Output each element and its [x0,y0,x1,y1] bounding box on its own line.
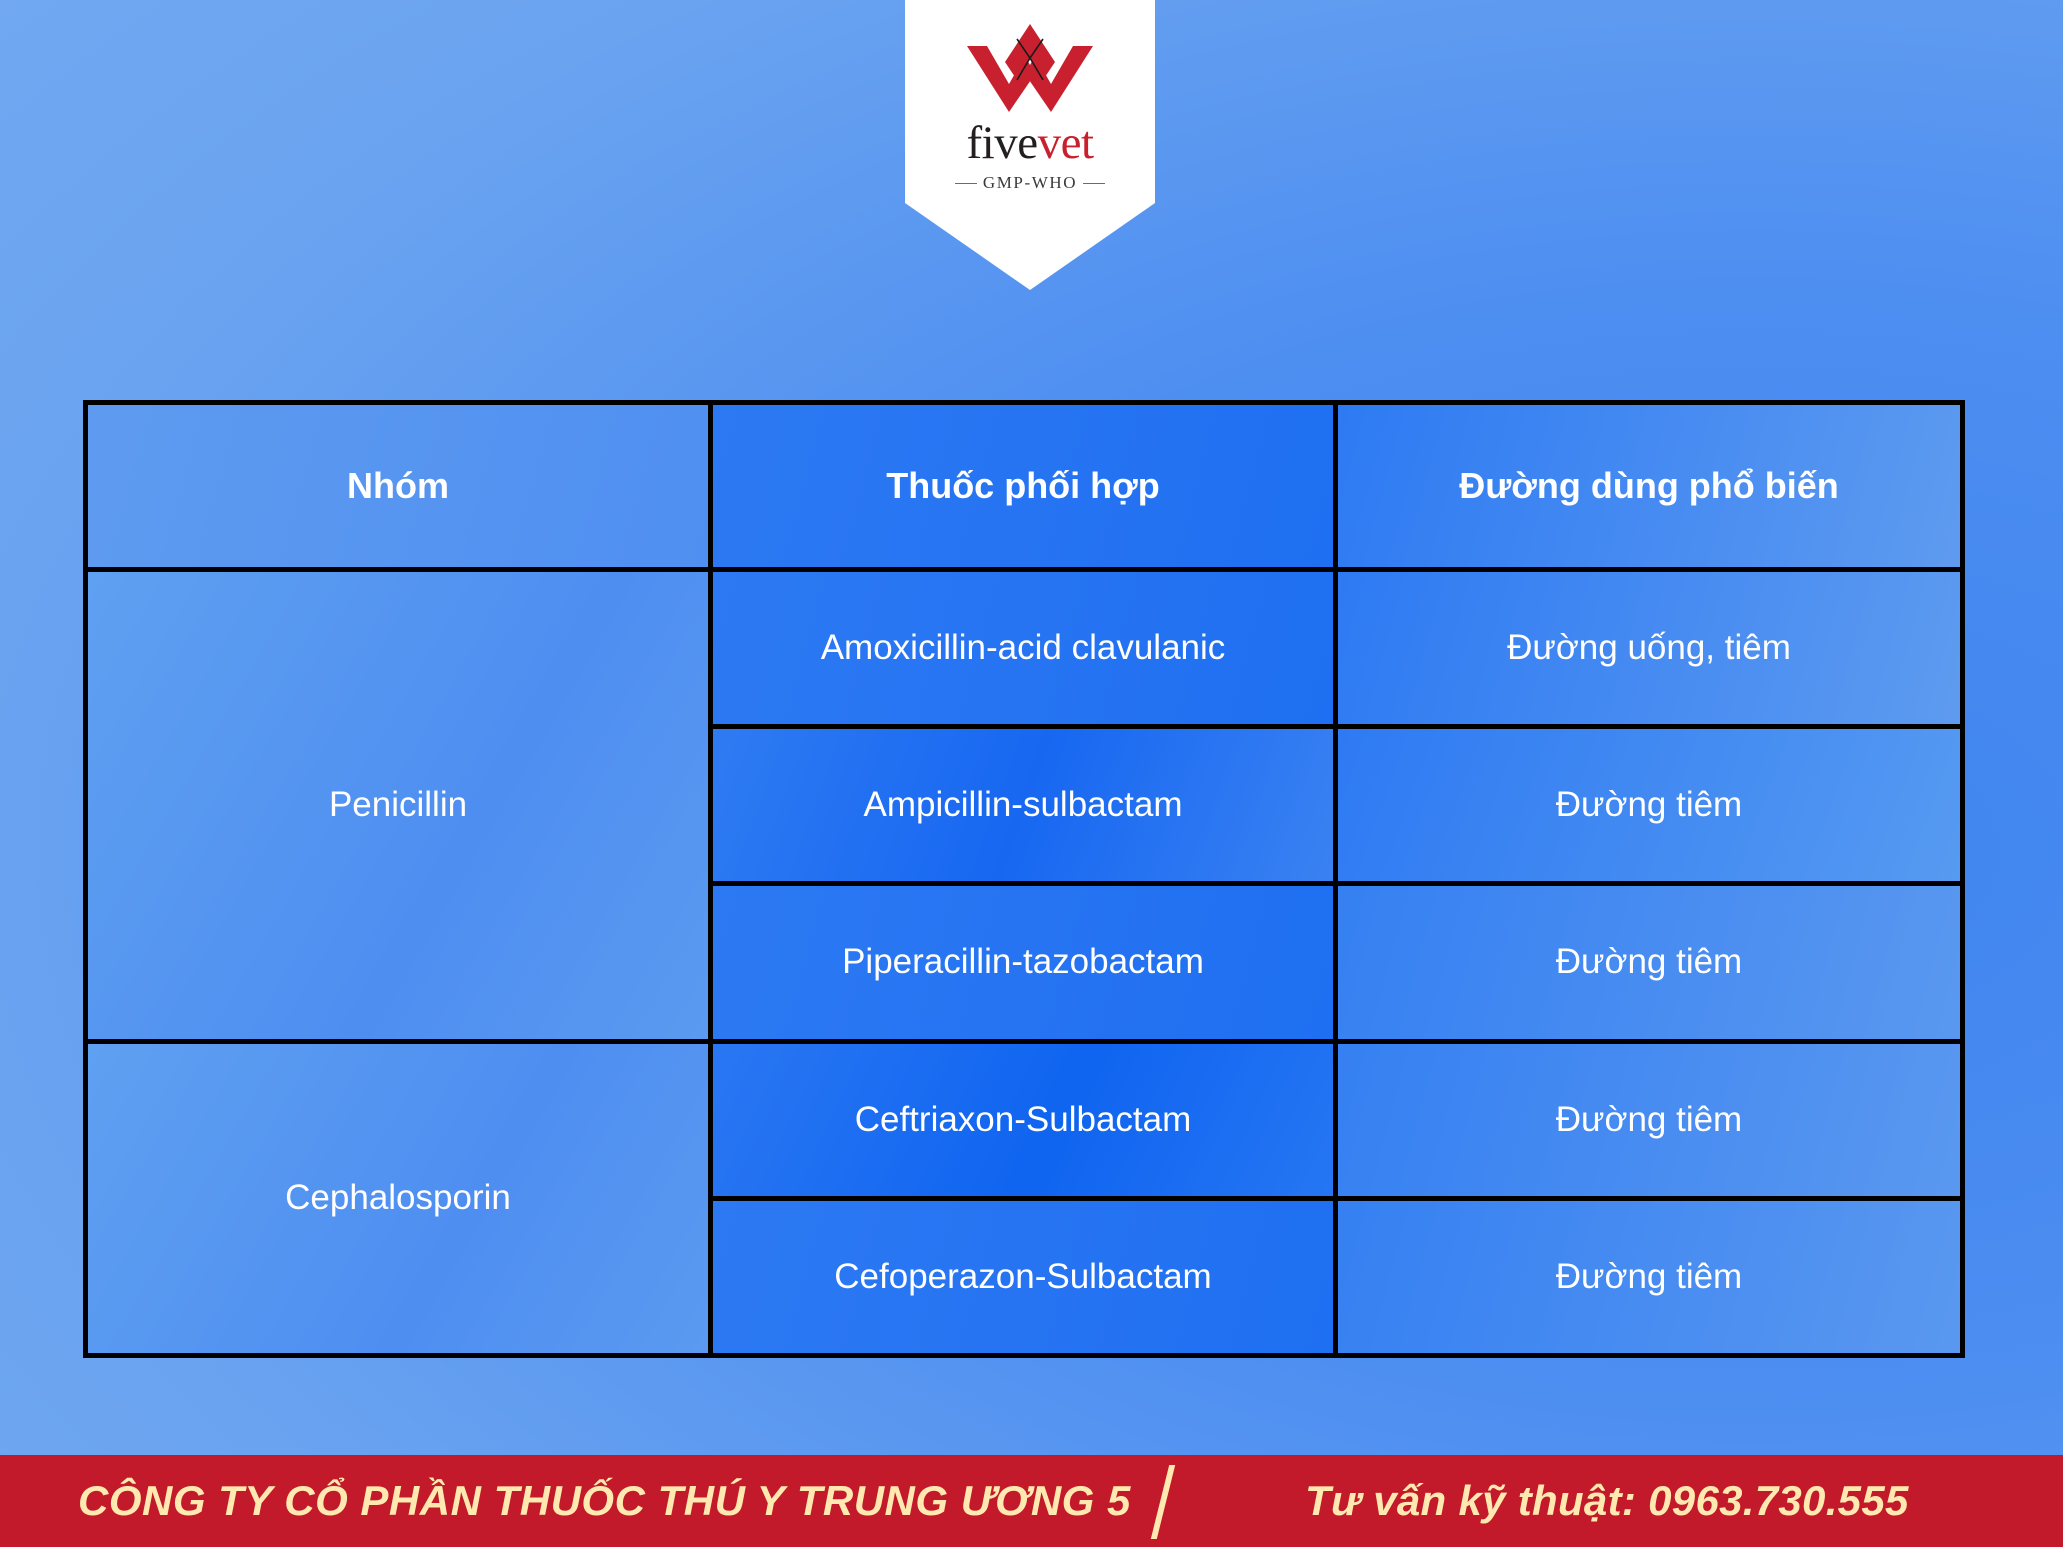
rule-right-icon [1083,183,1105,184]
certification-label: GMP-WHO [955,173,1105,193]
poster-canvas: fivevet GMP-WHO Nhóm Thuốc phối hợp Đườn… [0,0,2063,1547]
column-header-group: Nhóm [86,403,711,570]
wordmark-five: five [967,117,1038,169]
group-cell-penicillin: Penicillin [86,570,711,1042]
route-cell: Đường tiêm [1336,1041,1963,1198]
footer-banner: CÔNG TY CỔ PHẦN THUỐC THÚ Y TRUNG ƯƠNG 5… [0,1455,2063,1547]
column-header-route: Đường dùng phổ biến [1336,403,1963,570]
brand-wordmark: fivevet [967,120,1094,167]
wordmark-vet: vet [1038,117,1094,169]
table-row: Cephalosporin Ceftriaxon-Sulbactam Đường… [86,1041,1963,1198]
drug-cell: Ampicillin-sulbactam [711,727,1336,884]
antibiotic-combination-table: Nhóm Thuốc phối hợp Đường dùng phổ biến … [83,400,1965,1358]
table-header-row: Nhóm Thuốc phối hợp Đường dùng phổ biến [86,403,1963,570]
route-cell: Đường tiêm [1336,884,1963,1041]
certification-text: GMP-WHO [983,173,1077,193]
rule-left-icon [955,183,977,184]
route-cell: Đường uống, tiêm [1336,570,1963,727]
drug-cell: Cefoperazon-Sulbactam [711,1198,1336,1355]
hotline-text: Tư vấn kỹ thuật: 0963.730.555 [1305,1477,1909,1525]
drug-cell: Ceftriaxon-Sulbactam [711,1041,1336,1198]
route-cell: Đường tiêm [1336,1198,1963,1355]
route-cell: Đường tiêm [1336,727,1963,884]
company-name: CÔNG TY CỔ PHẦN THUỐC THÚ Y TRUNG ƯƠNG 5 [78,1477,1131,1525]
drug-cell: Piperacillin-tazobactam [711,884,1336,1041]
table-row: Penicillin Amoxicillin-acid clavulanic Đ… [86,570,1963,727]
slash-divider-icon [1151,1465,1175,1539]
brand-ribbon: fivevet GMP-WHO [905,0,1155,290]
drug-cell: Amoxicillin-acid clavulanic [711,570,1336,727]
column-header-drug: Thuốc phối hợp [711,403,1336,570]
group-cell-cephalosporin: Cephalosporin [86,1041,711,1355]
fivevet-chevron-logo-icon [965,22,1095,114]
